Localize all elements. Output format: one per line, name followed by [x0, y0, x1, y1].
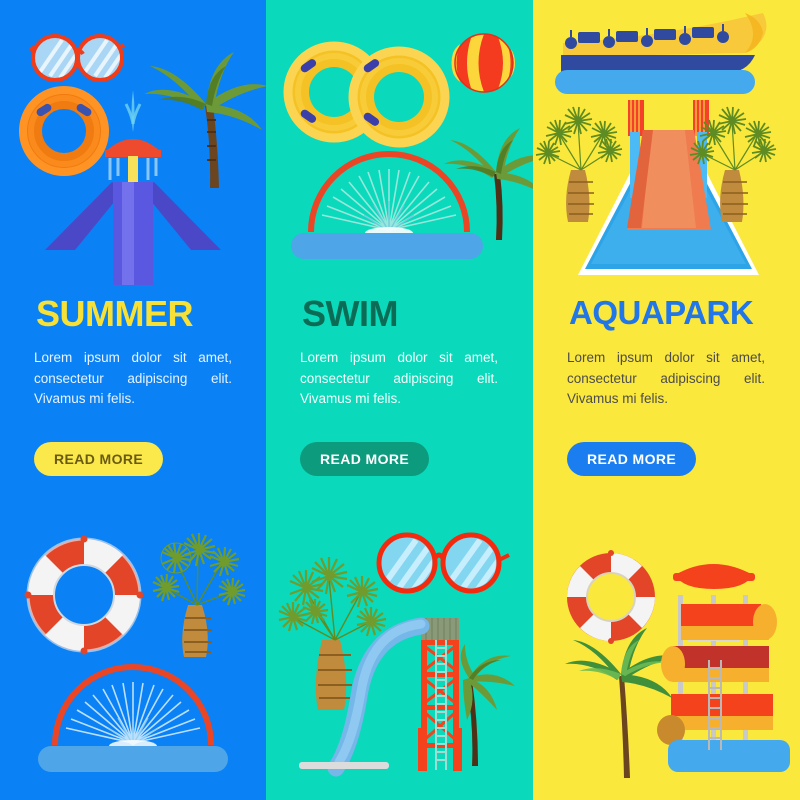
panel-swim: SWIM Lorem ipsum dolor sit amet, consect…: [266, 0, 533, 800]
sprinkler-arch: [38, 667, 228, 772]
swim-bottom-illustration: [266, 500, 533, 800]
read-more-button-summer[interactable]: READ MORE: [34, 442, 163, 476]
fan-palm-left: [536, 107, 622, 222]
panel-body-summer: Lorem ipsum dolor sit amet, consectetur …: [34, 348, 232, 410]
sunglasses-icon: [379, 535, 509, 592]
fan-palm-tree-icon: [153, 533, 245, 657]
panel-summer: SUMMER Lorem ipsum dolor sit amet, conse…: [0, 0, 266, 800]
inflatable-ring-icon: [23, 90, 105, 172]
inflatable-rings-icon: [288, 46, 445, 143]
palm-tree-icon: [444, 128, 533, 240]
fan-palm-tree-icon: [279, 557, 386, 710]
summer-top-illustration: [0, 0, 266, 285]
beach-ball-icon: [452, 34, 516, 92]
banner-set: SUMMER Lorem ipsum dolor sit amet, conse…: [0, 0, 800, 800]
palm-tree-icon: [144, 52, 266, 188]
read-more-button-swim[interactable]: READ MORE: [300, 442, 429, 476]
aquapark-top-illustration: [533, 0, 800, 285]
lifebuoy-icon: [567, 550, 655, 644]
panel-title-summer: SUMMER: [36, 296, 193, 332]
swim-copy-block: SWIM Lorem ipsum dolor sit amet, consect…: [266, 292, 533, 507]
sunglasses-icon: [30, 36, 127, 80]
panel-body-aquapark: Lorem ipsum dolor sit amet, consectetur …: [567, 348, 765, 410]
panel-title-aquapark: AQUAPARK: [569, 296, 753, 329]
panel-body-swim: Lorem ipsum dolor sit amet, consectetur …: [300, 348, 498, 410]
read-more-button-aquapark[interactable]: READ MORE: [567, 442, 696, 476]
lifebuoy-icon: [25, 536, 144, 655]
banana-boat-icon: [555, 13, 766, 94]
spiral-water-slide: [657, 564, 790, 772]
swim-top-illustration: [266, 0, 533, 285]
summer-copy-block: SUMMER Lorem ipsum dolor sit amet, conse…: [0, 292, 266, 507]
aquapark-copy-block: AQUAPARK Lorem ipsum dolor sit amet, con…: [533, 292, 800, 507]
aquapark-bottom-illustration: [533, 500, 800, 800]
panel-title-swim: SWIM: [302, 296, 398, 332]
sprinkler-arch: [291, 154, 483, 259]
summer-bottom-illustration: [0, 500, 266, 800]
panel-aquapark: AQUAPARK Lorem ipsum dolor sit amet, con…: [533, 0, 800, 800]
palm-tree-icon: [565, 628, 677, 778]
orange-water-slide: [536, 100, 776, 275]
